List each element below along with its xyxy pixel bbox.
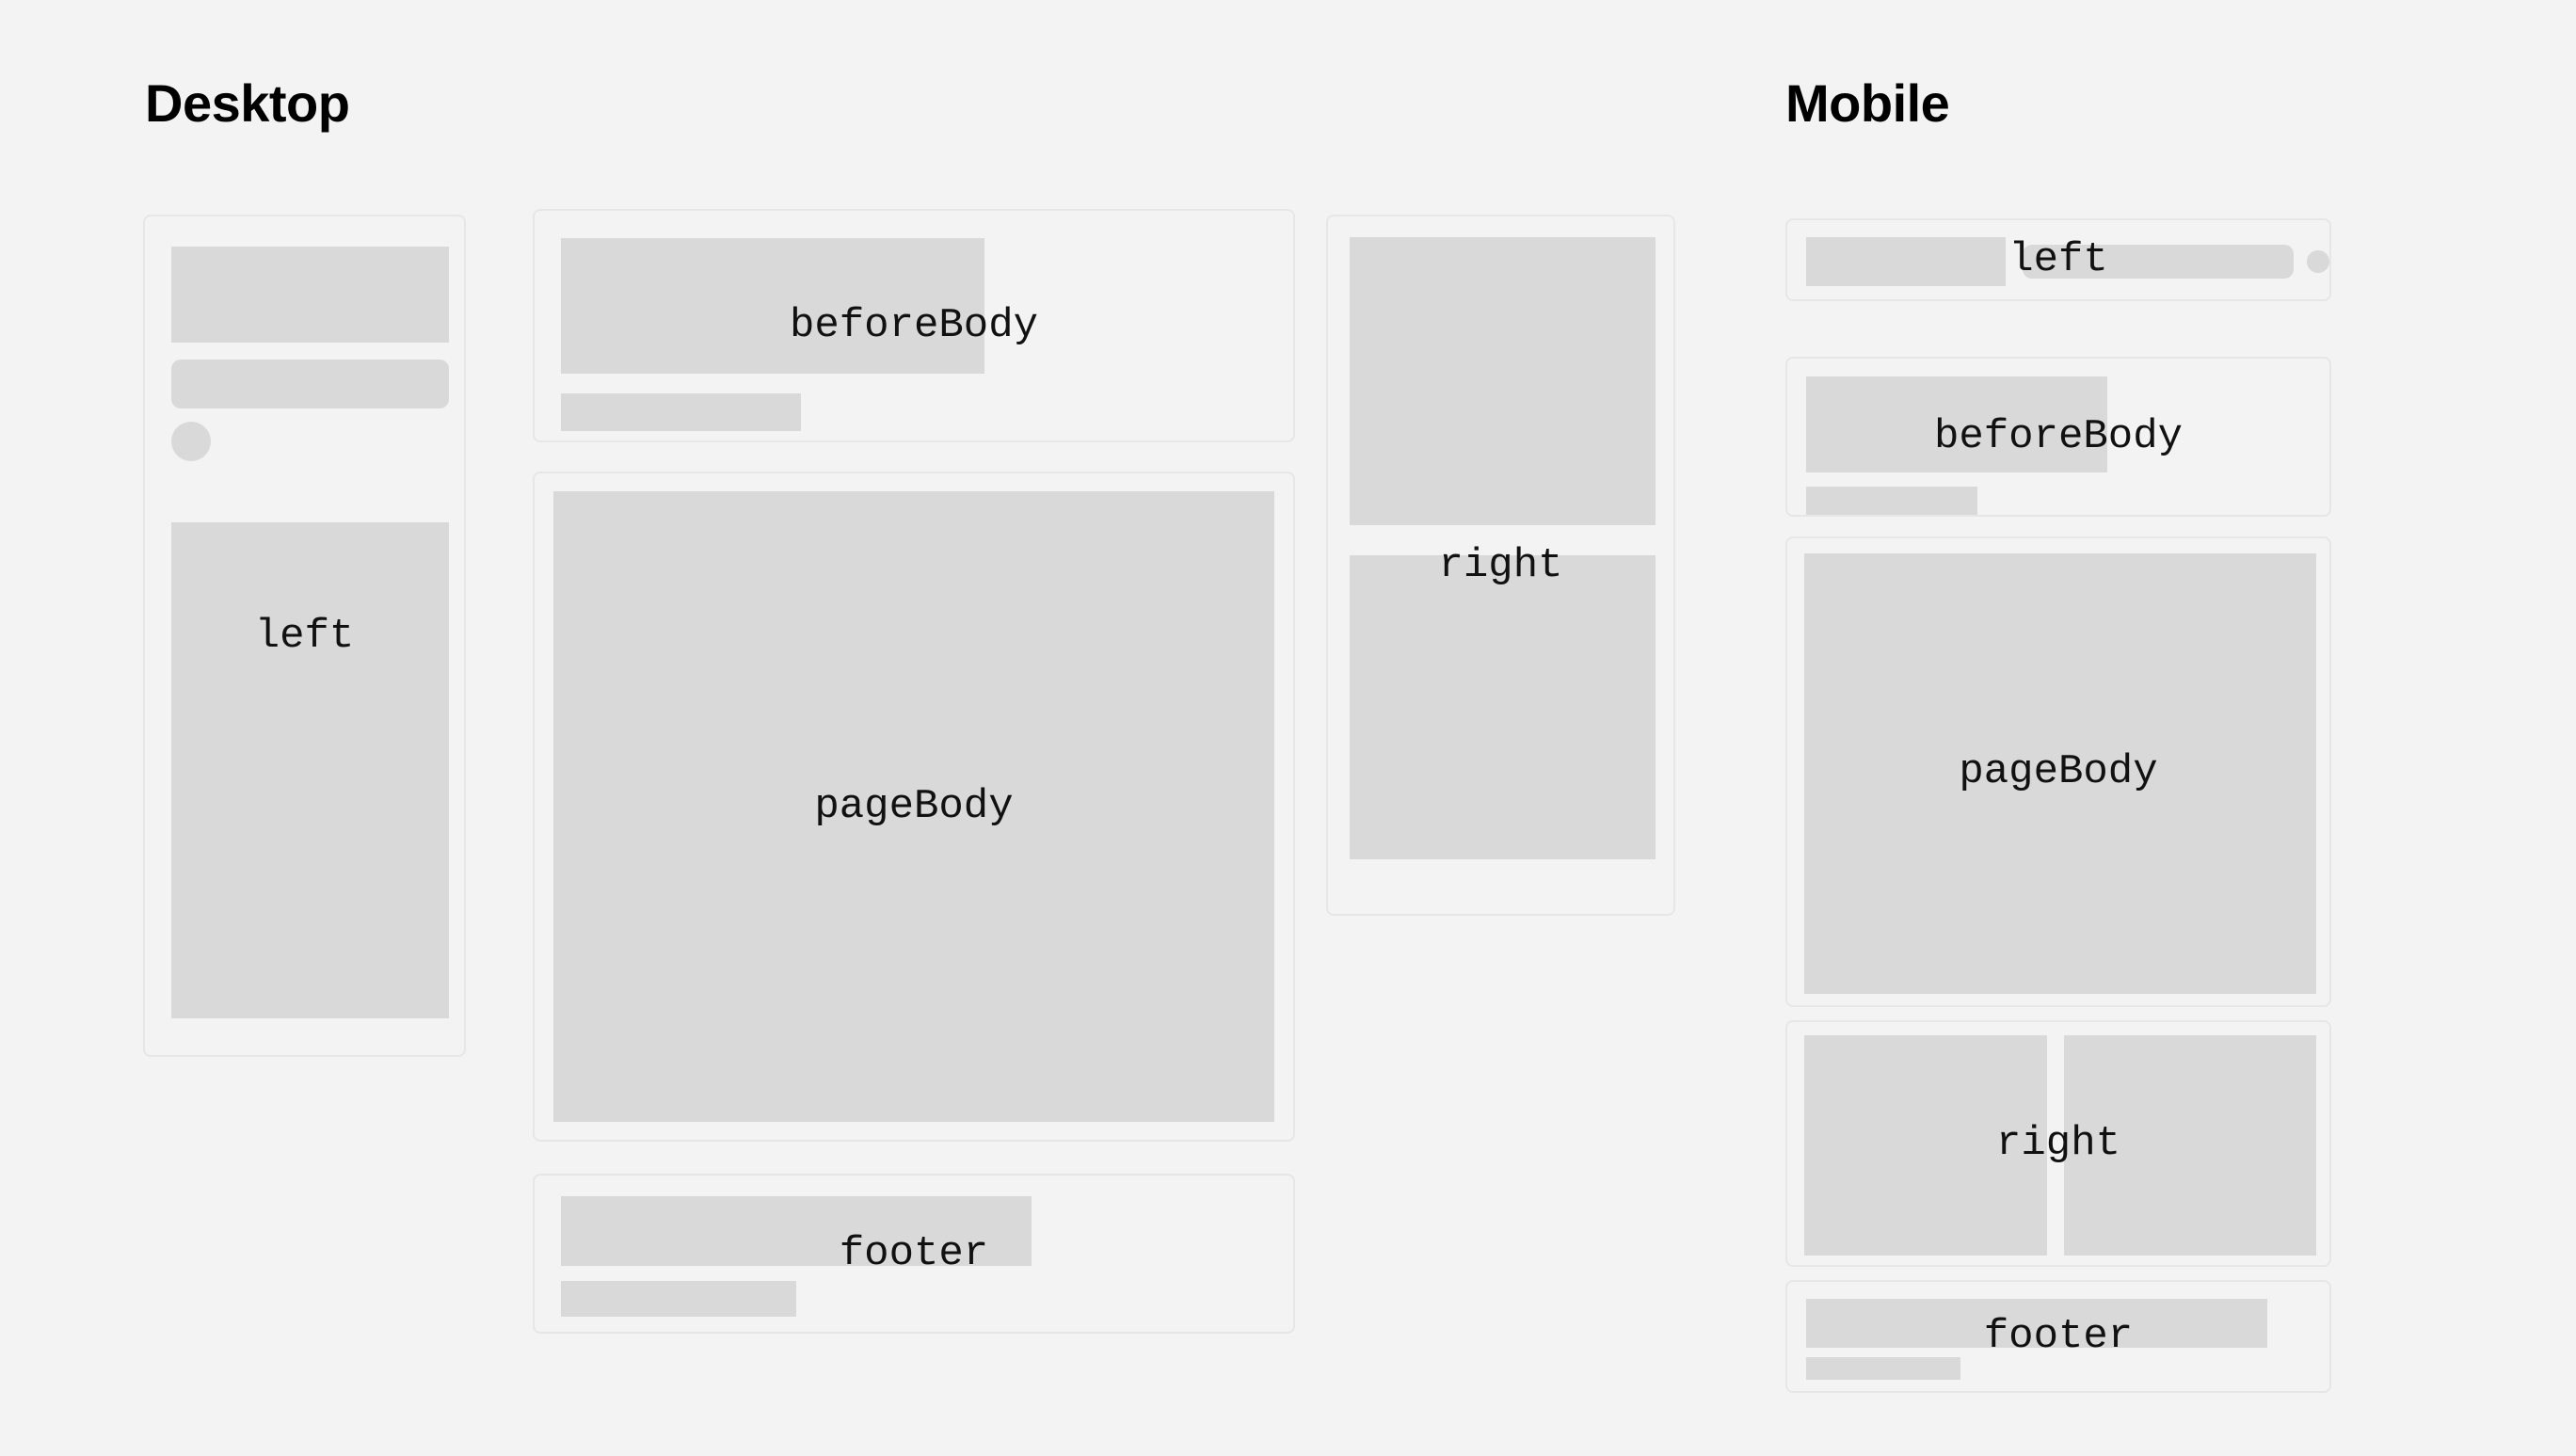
placeholder-bar	[2023, 245, 2294, 279]
mobile-region-right[interactable]	[1785, 1020, 2331, 1267]
mobile-region-left[interactable]	[1785, 218, 2331, 301]
mobile-column-heading: Mobile	[1785, 77, 1949, 130]
desktop-region-left[interactable]	[143, 215, 466, 1057]
avatar-circle-icon	[2307, 250, 2329, 273]
placeholder-block	[1806, 1299, 2267, 1348]
desktop-region-beforebody[interactable]	[533, 209, 1295, 442]
mobile-region-footer[interactable]	[1785, 1280, 2331, 1393]
placeholder-block	[2064, 1035, 2316, 1256]
placeholder-block	[1804, 553, 2316, 994]
placeholder-bar	[561, 1281, 796, 1317]
placeholder-block	[1350, 555, 1656, 859]
placeholder-block	[553, 491, 1274, 1122]
desktop-region-footer[interactable]	[533, 1174, 1295, 1334]
mobile-region-beforebody[interactable]	[1785, 357, 2331, 517]
placeholder-bar	[1806, 1357, 1960, 1380]
placeholder-block	[1806, 237, 2006, 286]
placeholder-bar	[171, 360, 449, 408]
placeholder-block	[1350, 237, 1656, 525]
desktop-region-pagebody[interactable]	[533, 472, 1295, 1142]
placeholder-block	[171, 522, 449, 1018]
placeholder-block	[561, 238, 984, 374]
placeholder-block	[171, 247, 449, 343]
placeholder-bar	[561, 393, 801, 431]
avatar-circle-icon	[171, 422, 211, 461]
placeholder-block	[561, 1196, 1032, 1266]
desktop-region-right[interactable]	[1326, 215, 1675, 916]
mobile-region-pagebody[interactable]	[1785, 536, 2331, 1007]
layout-preview-stage: Desktop left beforeBody pageBody footer …	[0, 0, 2576, 1456]
placeholder-block	[1806, 376, 2107, 472]
placeholder-bar	[1806, 487, 1977, 515]
desktop-column-heading: Desktop	[145, 77, 349, 130]
placeholder-block	[1804, 1035, 2047, 1256]
